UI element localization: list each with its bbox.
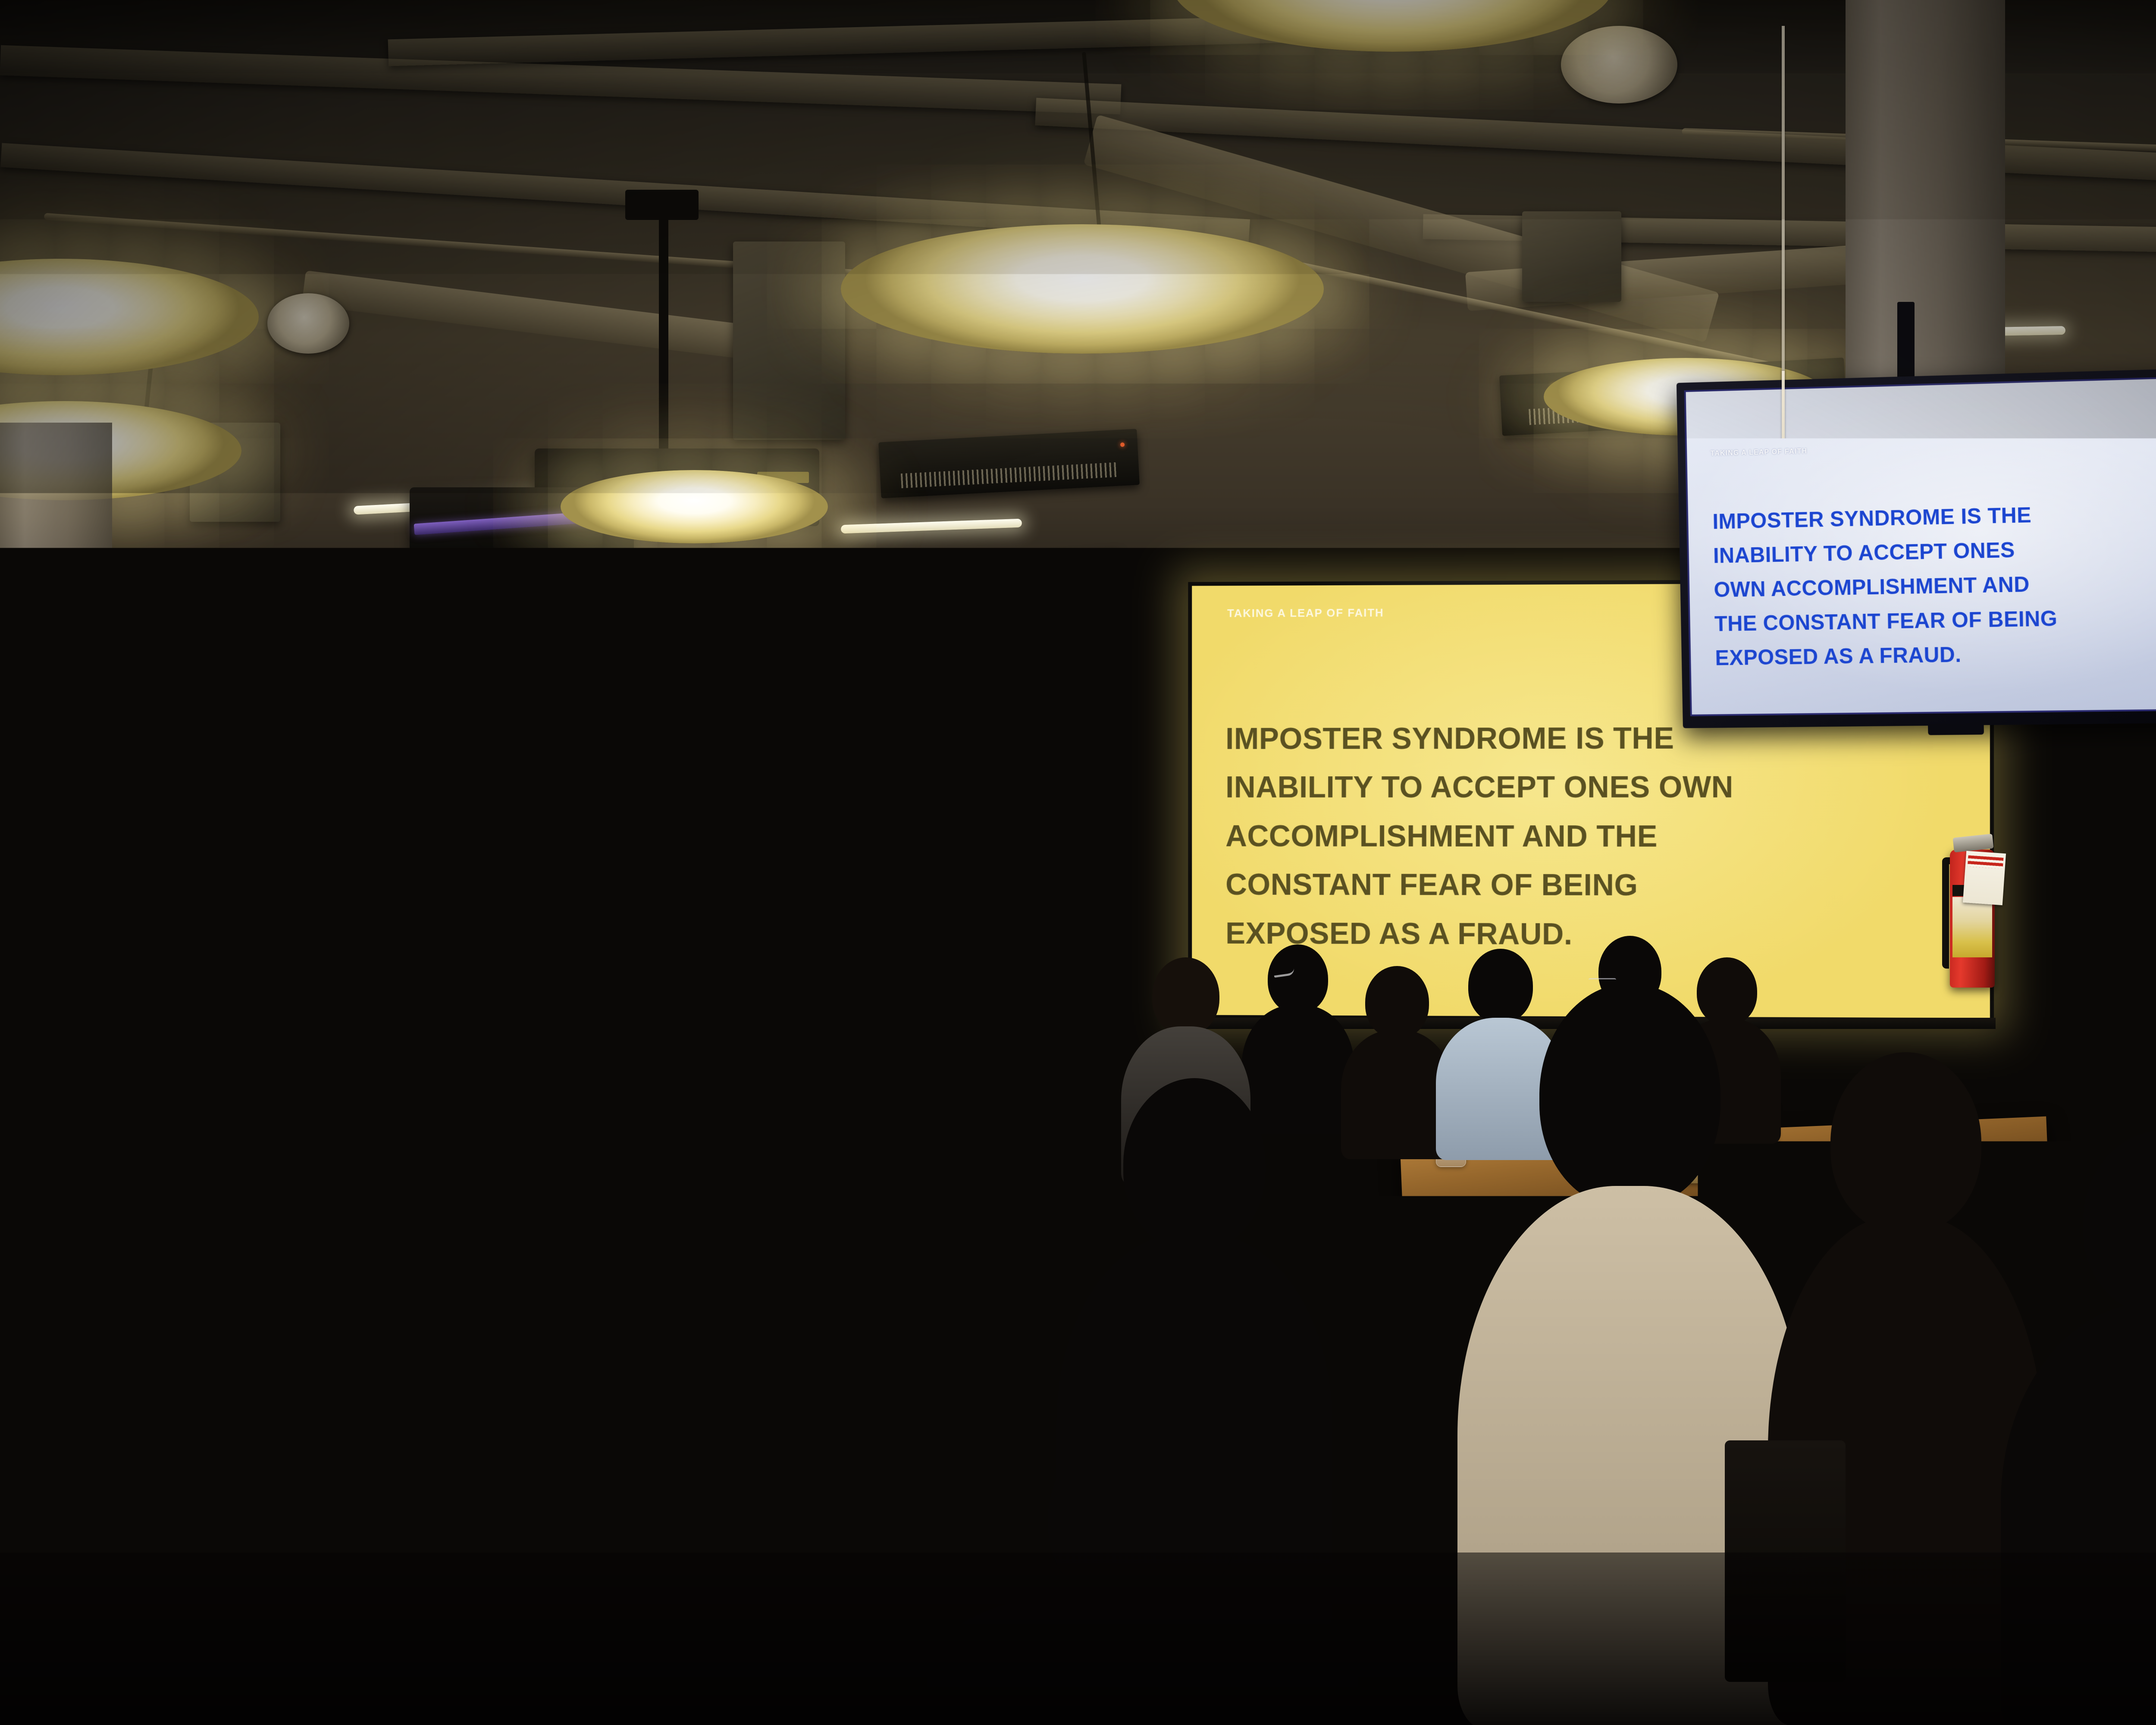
person-head	[850, 936, 918, 1014]
audio-rack-unit	[878, 429, 1140, 498]
fluorescent-tube	[841, 519, 1022, 534]
person-head	[1123, 1078, 1266, 1251]
pendant-lamp	[841, 224, 1324, 354]
presenter-gesturing-hand	[848, 762, 869, 785]
pendant-lamp	[561, 470, 828, 543]
mask-eye-left	[482, 861, 501, 879]
person-head	[539, 949, 608, 1027]
extinguisher-hose	[1942, 857, 1951, 969]
rack-vents	[955, 577, 1108, 602]
rack-vents	[901, 462, 1119, 488]
concrete-column-left	[0, 423, 112, 811]
podium-flyer	[630, 775, 662, 800]
tv-bottom-mount	[1928, 723, 1984, 735]
pendant-lamp-disc	[841, 224, 1324, 354]
pendant-lamp-disc	[0, 259, 259, 375]
foreground-shadow	[0, 1552, 2156, 1725]
person-head	[1152, 957, 1219, 1035]
event-photo-scene: Commerce for everyone	[0, 0, 2156, 1725]
person-head	[1830, 1052, 1981, 1233]
pendant-lamp	[1173, 0, 1613, 52]
pendant-lamp-disc	[1173, 0, 1613, 52]
foil-mask-decoration	[468, 827, 554, 928]
person-head	[34, 1138, 207, 1345]
tv-eyebrow-text: Taking a leap of faith	[1711, 448, 1808, 458]
pendant-lamp	[0, 259, 259, 375]
person-head	[78, 966, 150, 1050]
extinguisher-instruction-label	[1952, 897, 1992, 957]
mask-mouth	[484, 892, 537, 909]
ceiling-canister-light	[267, 293, 349, 354]
person-head	[332, 1104, 505, 1311]
back-wall-white-upper	[52, 561, 526, 612]
extinguisher-inspection-tag	[1963, 851, 2006, 905]
fire-extinguisher	[1940, 832, 2005, 988]
tv-screen-panel: 7 Taking a leap of faith Imposter syndro…	[1684, 376, 2156, 716]
rack-led-red	[1120, 442, 1125, 447]
ceiling-pipe-left	[52, 699, 379, 710]
person-body	[819, 1006, 949, 1165]
person-head	[1000, 923, 1070, 1005]
person-head	[2137, 1000, 2156, 1113]
person-body	[668, 998, 798, 1158]
audience-member	[819, 936, 949, 1160]
wall-speaker	[1522, 211, 1621, 302]
person-head	[688, 1173, 847, 1363]
person-head	[389, 940, 456, 1019]
person-head	[1539, 983, 1720, 1207]
slide-body-text: Imposter syndrome is the inability to ac…	[1225, 714, 1741, 959]
disco-ball	[345, 707, 392, 755]
ceiling-speaker	[733, 241, 845, 440]
electrical-plug-over-tv	[1771, 591, 1797, 638]
slide-eyebrow-text: Taking a leap of faith	[1227, 606, 1384, 620]
plastic-cup	[981, 1370, 1025, 1427]
person-head	[1365, 966, 1429, 1038]
pendant-lamp-disc	[561, 470, 828, 543]
person-head	[699, 927, 768, 1007]
audience-member	[668, 927, 798, 1151]
person-head	[1268, 944, 1328, 1013]
mask-eye-right	[518, 862, 537, 881]
eyeglasses-icon	[2099, 1069, 2134, 1076]
wall-mounted-tv: 7 Taking a leap of faith Imposter syndro…	[1677, 367, 2156, 728]
tv-body-text: Imposter syndrome is the inability to ac…	[1712, 497, 2065, 675]
person-head	[2083, 1130, 2156, 1315]
person-head	[235, 949, 304, 1029]
cord-knob-over-tv	[1764, 474, 1803, 509]
